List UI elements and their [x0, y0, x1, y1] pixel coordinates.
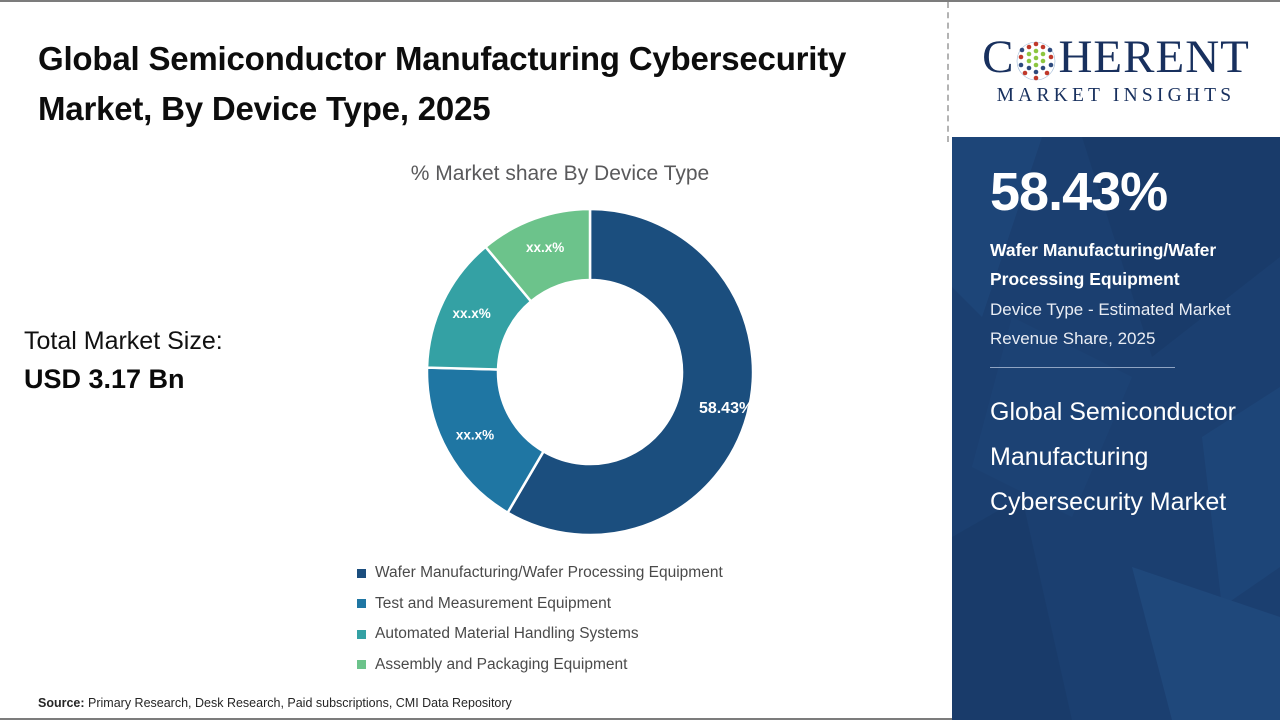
panel-market-name: Global Semiconductor Manufacturing Cyber… — [990, 390, 1256, 525]
logo-tagline: MARKET INSIGHTS — [982, 85, 1250, 107]
panel-percentage: 58.43% — [990, 165, 1256, 220]
total-market-size-value: USD 3.17 Bn — [24, 364, 185, 395]
vertical-dashed-divider — [947, 2, 949, 142]
donut-slice-label: xx.x% — [456, 427, 494, 442]
total-market-size-label: Total Market Size: — [24, 327, 223, 356]
legend-item: Test and Measurement Equipment — [357, 589, 917, 620]
infographic-page: Global Semiconductor Manufacturing Cyber… — [0, 0, 1280, 720]
globe-icon — [1015, 40, 1057, 82]
legend-swatch-icon — [357, 660, 366, 669]
legend-swatch-icon — [357, 569, 366, 578]
legend-label: Assembly and Packaging Equipment — [375, 656, 627, 674]
donut-slice-label: 58.43% — [699, 400, 753, 417]
donut-chart: 58.43%xx.x%xx.x%xx.x% — [425, 207, 755, 537]
legend-swatch-icon — [357, 599, 366, 608]
legend-swatch-icon — [357, 630, 366, 639]
legend-label: Automated Material Handling Systems — [375, 625, 639, 643]
legend-label: Test and Measurement Equipment — [375, 595, 611, 613]
brand-logo: C — [952, 4, 1280, 137]
logo-letters-herent: HERENT — [1058, 34, 1249, 81]
donut-chart-svg: 58.43%xx.x%xx.x%xx.x% — [425, 207, 755, 537]
highlight-panel: 58.43% Wafer Manufacturing/Wafer Process… — [952, 137, 1280, 720]
source-label: Source: — [38, 696, 85, 710]
legend-item: Automated Material Handling Systems — [357, 619, 917, 650]
panel-subheading: Device Type - Estimated Market Revenue S… — [990, 295, 1256, 353]
panel-heading: Wafer Manufacturing/Wafer Processing Equ… — [990, 236, 1256, 294]
source-text: Primary Research, Desk Research, Paid su… — [85, 696, 512, 710]
page-title: Global Semiconductor Manufacturing Cyber… — [38, 34, 898, 134]
legend-item: Wafer Manufacturing/Wafer Processing Equ… — [357, 558, 917, 589]
legend-label: Wafer Manufacturing/Wafer Processing Equ… — [375, 564, 723, 582]
legend-item: Assembly and Packaging Equipment — [357, 650, 917, 681]
source-note: Source: Primary Research, Desk Research,… — [38, 696, 512, 710]
donut-slice-label: xx.x% — [526, 240, 564, 255]
panel-divider — [990, 367, 1175, 368]
chart-legend: Wafer Manufacturing/Wafer Processing Equ… — [357, 558, 917, 680]
donut-slice-label: xx.x% — [453, 306, 491, 321]
logo-wordmark: C — [982, 34, 1250, 81]
chart-subtitle: % Market share By Device Type — [200, 162, 920, 186]
logo-letter-c: C — [982, 34, 1014, 81]
